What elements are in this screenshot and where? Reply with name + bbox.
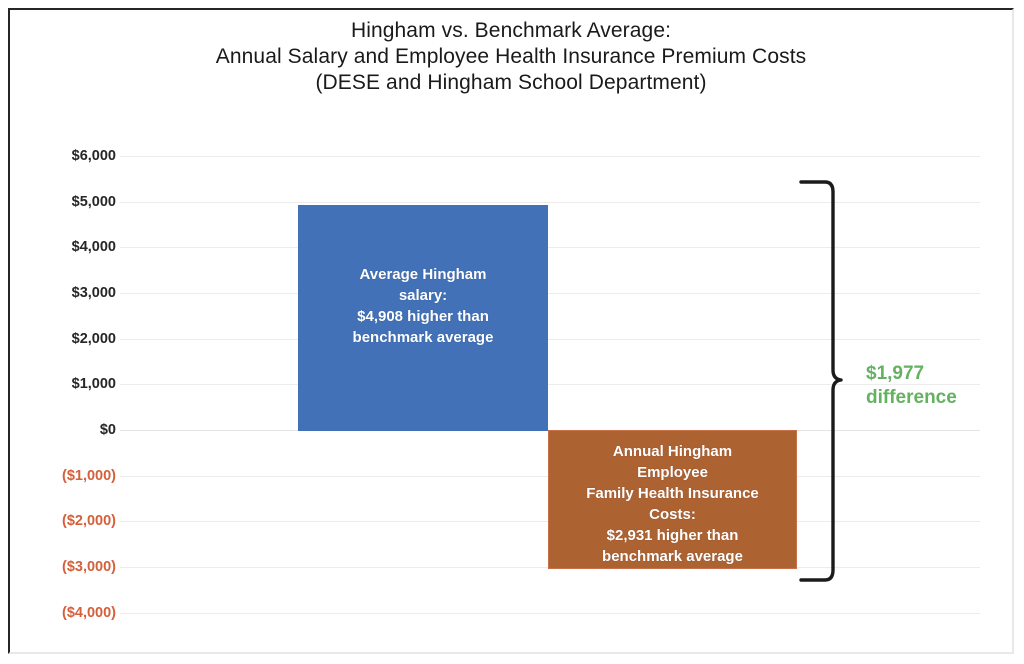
chart-title-line-2: Annual Salary and Employee Health Insura… <box>10 44 1012 70</box>
bar-label-annual-hingham-employee-family-health-insurance-costs: Annual Hingham Employee Family Health In… <box>549 441 796 567</box>
chart-frame: Hingham vs. Benchmark Average: Annual Sa… <box>8 8 1014 654</box>
gridline-1000 <box>120 384 980 385</box>
difference-bracket-icon <box>795 178 843 584</box>
chart-title-line-3: (DESE and Hingham School Department) <box>10 70 1012 96</box>
ytick-neg4000: ($4,000) <box>30 605 116 621</box>
ytick-4000: $4,000 <box>30 239 116 255</box>
gridline-5000 <box>120 202 980 203</box>
ytick-2000: $2,000 <box>30 331 116 347</box>
ytick-neg2000: ($2,000) <box>30 513 116 529</box>
plot-area: $6,000 $5,000 $4,000 $3,000 $2,000 $1,00… <box>120 156 980 613</box>
gridline-6000 <box>120 156 980 157</box>
ytick-neg1000: ($1,000) <box>30 468 116 484</box>
gridline-4000 <box>120 247 980 248</box>
ytick-1000: $1,000 <box>30 376 116 392</box>
ytick-6000: $6,000 <box>30 148 116 164</box>
ytick-5000: $5,000 <box>30 194 116 210</box>
bar-label-average-hingham-salary: Average Hingham salary: $4,908 higher th… <box>299 264 547 348</box>
ytick-3000: $3,000 <box>30 285 116 301</box>
gridline-2000 <box>120 339 980 340</box>
bar-average-hingham-salary[interactable]: Average Hingham salary: $4,908 higher th… <box>298 205 548 431</box>
chart-title-line-1: Hingham vs. Benchmark Average: <box>10 18 1012 44</box>
gridline-neg4000 <box>120 613 980 614</box>
difference-label: $1,977 difference <box>866 362 957 410</box>
ytick-neg3000: ($3,000) <box>30 559 116 575</box>
gridline-3000 <box>120 293 980 294</box>
bar-annual-hingham-employee-family-health-insurance-costs[interactable]: Annual Hingham Employee Family Health In… <box>548 430 797 569</box>
chart-title: Hingham vs. Benchmark Average: Annual Sa… <box>10 18 1012 96</box>
ytick-0: $0 <box>30 422 116 438</box>
